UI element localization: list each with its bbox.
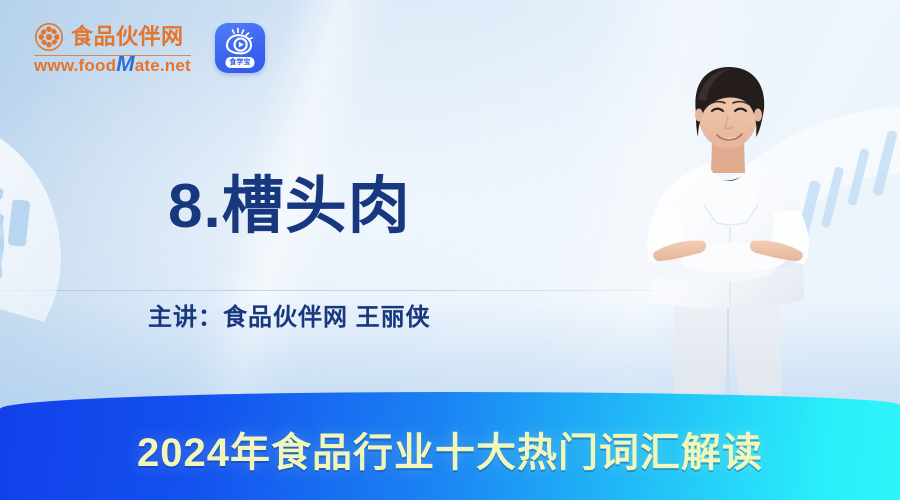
shixuebao-app-badge[interactable]: 食学宝 [215,23,265,73]
bottom-banner-text: 2024年食品行业十大热门词汇解读 [137,433,763,473]
slide-canvas: 食品伙伴网 www.foodMate.net [0,0,900,500]
bottom-banner: 2024年食品行业十大热门词汇解读 [0,392,900,500]
presenter-line: 主讲：食品伙伴网 王丽侠 [148,306,431,330]
brand-url: www.foodMate.net [34,57,191,75]
brand-url-suffix: ate.net [135,56,191,75]
brand-url-prefix: www.food [34,56,116,75]
presenter-photo [612,55,842,405]
brand-name-cn: 食品伙伴网 [71,26,184,48]
app-badge-label: 食学宝 [225,57,254,68]
eye-play-icon [222,27,258,57]
bottom-banner-inner: 2024年食品行业十大热门词汇解读 [0,392,900,500]
flower-logo-icon [34,22,64,52]
brand-divider [34,55,191,56]
header-logo-row: 食品伙伴网 www.foodMate.net [34,22,265,75]
foodmate-brand-logo[interactable]: 食品伙伴网 www.foodMate.net [34,22,191,75]
brand-top-row: 食品伙伴网 [34,22,184,52]
page-title: 8.槽头肉 [168,176,411,238]
